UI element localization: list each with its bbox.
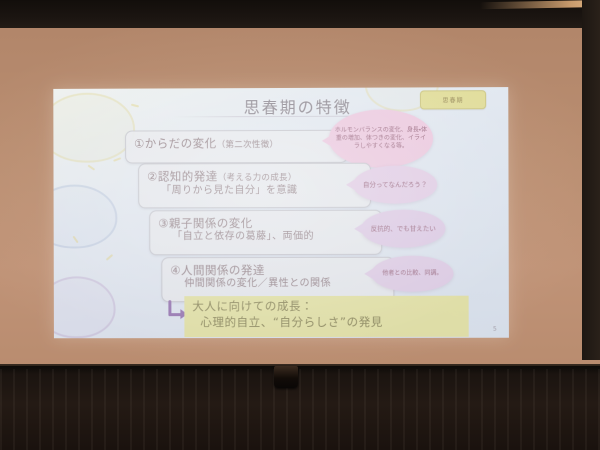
page-number: 5 bbox=[493, 326, 497, 333]
curtain-folds bbox=[0, 369, 600, 450]
sparkle-decor bbox=[106, 254, 113, 261]
callout-bubble-1: ホルモンバランスの変化、身長・体重の増加、体つきの変化、イライラしやすくなる等。 bbox=[329, 109, 433, 167]
decorative-balloon-purple bbox=[53, 276, 115, 338]
list-item: ③親子関係の変化 「自立と依存の葛藤」、両価的 bbox=[149, 210, 382, 256]
conclusion-box: 大人に向けての成長： 心理的自立、“自分らしさ”の発見 bbox=[184, 296, 468, 337]
photo-scene: 思春期の特徴 思春期 ①からだの変化（第二次性徴） ホルモンバランスの変化、身長… bbox=[0, 0, 600, 450]
sparkle-decor bbox=[87, 164, 95, 170]
right-pillar bbox=[582, 0, 600, 360]
callout-bubble-2: 自分ってなんだろう？ bbox=[353, 166, 437, 204]
sparkle-decor bbox=[113, 157, 121, 162]
item-heading-3: ③親子関係の変化 bbox=[158, 216, 373, 231]
item-heading-1: ①からだの変化（第二次性徴） bbox=[134, 136, 339, 151]
item-sub-1: （第二次性徴） bbox=[217, 140, 279, 150]
list-item: ①からだの変化（第二次性徴） bbox=[125, 130, 348, 164]
conclusion-line-2: 心理的自立、“自分らしさ”の発見 bbox=[192, 314, 462, 330]
item-heading-2: ②認知的発達（考える力の成長） bbox=[147, 169, 362, 184]
item-detail-2: 「周りから見た自分」を意識 bbox=[147, 183, 362, 197]
sparkle-decor bbox=[131, 104, 139, 108]
conclusion-line-1: 大人に向けての成長： bbox=[192, 299, 462, 315]
item-detail-3: 「自立と依存の葛藤」、両価的 bbox=[158, 230, 373, 244]
callout-bubble-3: 反抗的、でも甘えたい bbox=[361, 210, 445, 248]
item-sub-2: （考える力の成長） bbox=[218, 173, 297, 183]
item-heading-4: ④人間関係の発達 bbox=[170, 263, 385, 278]
decorative-balloon-yellow bbox=[53, 93, 135, 163]
decorative-balloon-blue bbox=[53, 184, 117, 248]
slide-badge: 思春期 bbox=[420, 90, 486, 109]
callout-bubble-4: 他者との比較、同調。 bbox=[371, 256, 453, 292]
item-detail-4: 仲間関係の変化／異性との関係 bbox=[170, 277, 385, 290]
projected-slide: 思春期の特徴 思春期 ①からだの変化（第二次性徴） ホルモンバランスの変化、身長… bbox=[53, 87, 509, 338]
list-item: ②認知的発達（考える力の成長） 「周りから見た自分」を意識 bbox=[138, 163, 371, 209]
sparkle-decor bbox=[72, 236, 78, 244]
curtain-handle bbox=[274, 366, 298, 388]
